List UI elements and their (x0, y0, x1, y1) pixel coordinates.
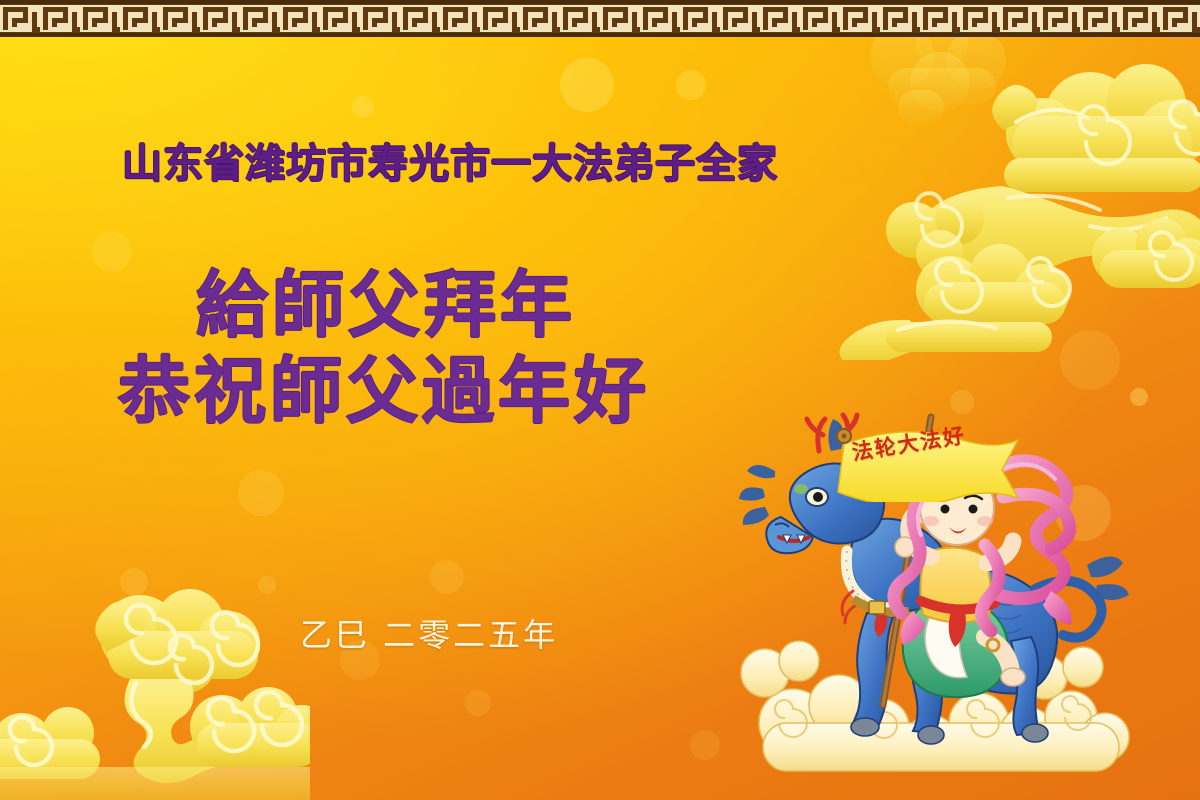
bokeh-dot (120, 568, 148, 596)
bokeh-dot (92, 232, 132, 272)
bokeh-dot (352, 96, 374, 118)
cloud-decoration-upper-right (790, 30, 1200, 360)
date-line: 乙巳 二零二五年 (300, 610, 558, 656)
greeting-line-2: 恭祝師父過年好 (118, 348, 650, 434)
bokeh-dot (690, 730, 720, 760)
bokeh-dot (1060, 330, 1120, 390)
bokeh-dot (430, 560, 464, 594)
sender-line: 山东省潍坊市寿光市一大法弟子全家 (122, 131, 778, 189)
decorative-meander-border (0, 0, 1200, 37)
cloud-decoration-lower-left (0, 575, 310, 800)
bokeh-dot (465, 690, 491, 716)
greeting-line-1: 給師父拜年 (196, 262, 650, 348)
bokeh-dot (258, 576, 276, 594)
new-year-greeting-card: 法轮大法好 山东省潍坊市寿光市一大法弟子全家 給師父拜年 恭祝師父過年好 乙巳 … (0, 0, 1200, 800)
bokeh-dot (238, 470, 284, 516)
bokeh-dot (560, 58, 614, 112)
bokeh-dot (1130, 388, 1148, 406)
bokeh-dot (676, 70, 706, 100)
greeting-block: 給師父拜年 恭祝師父過年好 (196, 262, 650, 434)
